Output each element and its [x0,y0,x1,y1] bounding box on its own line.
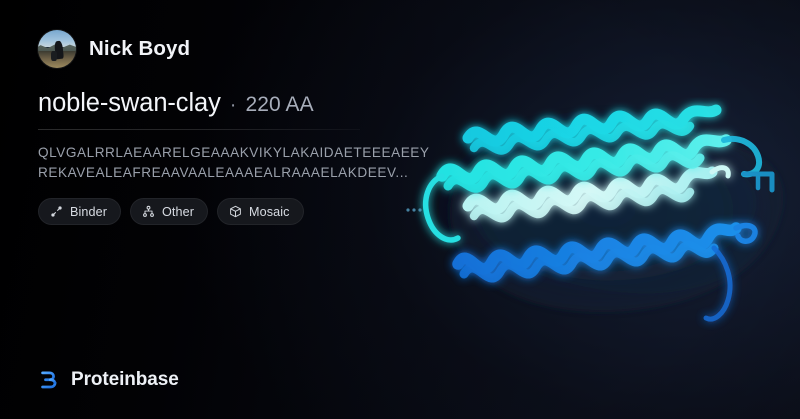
proteinbase-helix-logo [38,369,60,391]
protein-share-card: Nick Boyd noble-swan-clay · 220 AA QLVGA… [0,0,800,419]
badge-mosaic-label: Mosaic [249,205,290,219]
sequence-length-label: 220 AA [245,93,313,117]
avatar-photo-figure-secondary [51,51,57,61]
binder-link-icon [50,205,63,218]
title-divider [38,129,360,130]
author-row[interactable]: Nick Boyd [38,28,458,70]
info-column: Nick Boyd noble-swan-clay · 220 AA QLVGA… [38,28,458,225]
footer-brand[interactable]: Proteinbase [38,369,179,391]
title-separator: · [230,95,237,115]
page-title: noble-swan-clay · 220 AA [38,89,458,118]
protein-name: noble-swan-clay [38,89,221,118]
badge-other[interactable]: Other [130,198,208,225]
tag-list: Binder Other Mosaic [38,198,458,225]
badge-binder[interactable]: Binder [38,198,121,225]
badge-binder-label: Binder [70,205,107,219]
badge-other-label: Other [162,205,194,219]
protein-structure-render [406,78,800,348]
brand-name: Proteinbase [71,369,179,391]
amino-acid-sequence: QLVGALRRLAEAARELGEAAAKVIKYLAKAIDAETEEEAE… [38,143,430,182]
hierarchy-icon [142,205,155,218]
badge-mosaic[interactable]: Mosaic [217,198,304,225]
author-name: Nick Boyd [89,37,190,61]
cube-box-icon [229,205,242,218]
avatar[interactable] [38,30,76,68]
